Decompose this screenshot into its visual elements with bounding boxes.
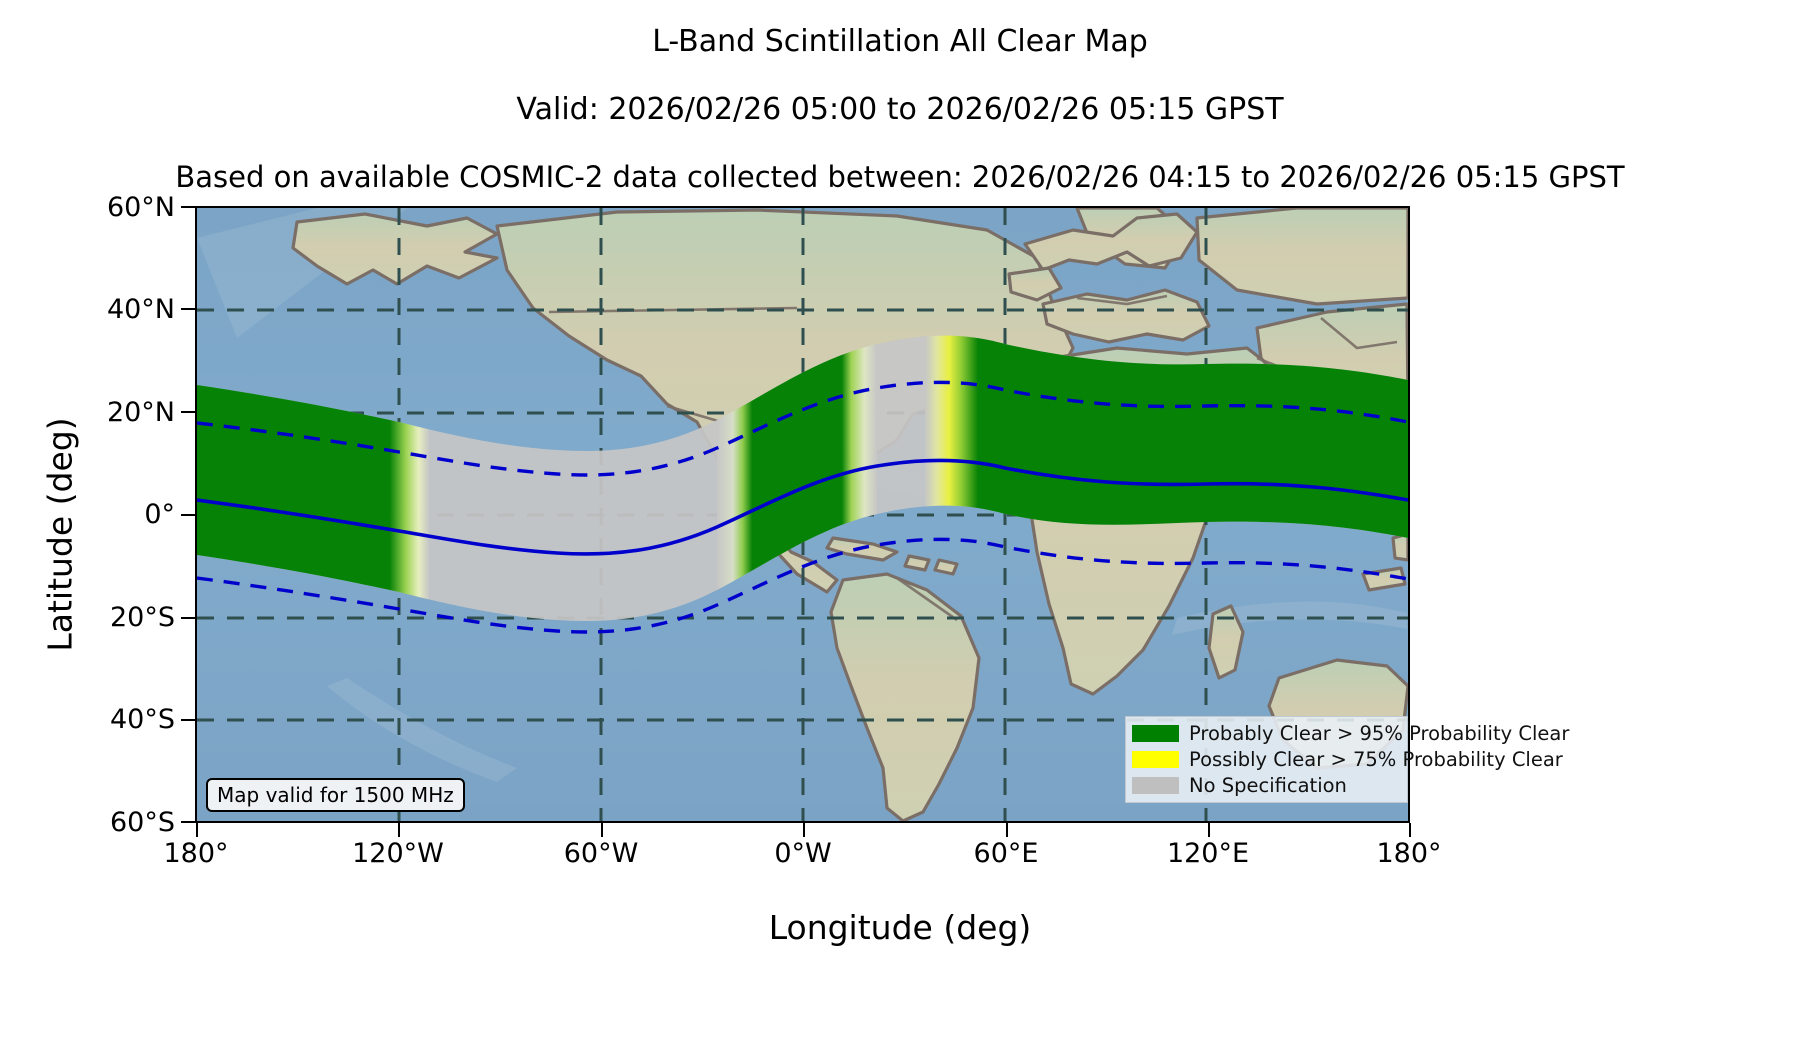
validity-subtitle: Valid: 2026/02/26 05:00 to 2026/02/26 05…: [0, 92, 1800, 127]
legend-swatch-yellow: [1132, 751, 1179, 768]
x-tick-mark: [1006, 823, 1008, 837]
map-legend: Probably Clear > 95% Probability Clear P…: [1125, 716, 1408, 803]
x-tick-label: 0°W: [774, 838, 831, 869]
legend-label: Possibly Clear > 75% Probability Clear: [1189, 748, 1563, 771]
legend-label: Probably Clear > 95% Probability Clear: [1189, 722, 1569, 745]
x-tick-mark: [1409, 823, 1411, 837]
y-tick-label: 40°N: [107, 294, 175, 325]
y-tick-label: 0°: [144, 499, 175, 530]
legend-item-probably-clear: Probably Clear > 95% Probability Clear: [1132, 721, 1401, 746]
southern-boundary-curve: [197, 539, 1408, 632]
y-tick-label: 40°S: [110, 704, 175, 735]
x-tick-label: 120°W: [352, 838, 444, 869]
y-tick-mark: [181, 719, 195, 721]
legend-item-possibly-clear: Possibly Clear > 75% Probability Clear: [1132, 747, 1401, 772]
x-tick-mark: [1208, 823, 1210, 837]
x-tick-label: 60°W: [564, 838, 639, 869]
y-tick-mark: [181, 206, 195, 208]
frequency-annotation: Map valid for 1500 MHz: [206, 778, 465, 812]
magnetic-equator-curve: [197, 460, 1408, 554]
x-tick-label: 120°E: [1167, 838, 1249, 869]
x-tick-label: 180°: [1376, 838, 1441, 869]
y-tick-label: 20°N: [107, 397, 175, 428]
northern-boundary-curve: [197, 382, 1408, 475]
legend-swatch-green: [1132, 725, 1179, 742]
scintillation-map-figure: L-Band Scintillation All Clear Map Valid…: [0, 0, 1800, 1050]
x-tick-mark: [601, 823, 603, 837]
legend-label: No Specification: [1189, 774, 1347, 797]
y-tick-mark: [181, 514, 195, 516]
x-tick-mark: [398, 823, 400, 837]
y-tick-mark: [181, 617, 195, 619]
y-tick-label: 60°N: [107, 192, 175, 223]
legend-item-no-specification: No Specification: [1132, 773, 1401, 798]
x-tick-mark: [803, 823, 805, 837]
x-tick-mark: [196, 823, 198, 837]
y-tick-label: 60°S: [110, 807, 175, 838]
page-title: L-Band Scintillation All Clear Map: [0, 24, 1800, 59]
data-source-subtitle: Based on available COSMIC-2 data collect…: [0, 160, 1800, 194]
y-axis-label: Latitude (deg): [41, 335, 80, 735]
legend-swatch-grey: [1132, 777, 1179, 794]
x-tick-label: 60°E: [974, 838, 1039, 869]
y-tick-mark: [181, 821, 195, 823]
y-tick-label: 20°S: [110, 602, 175, 633]
x-axis-label: Longitude (deg): [0, 908, 1800, 947]
y-tick-mark: [181, 308, 195, 310]
y-tick-mark: [181, 411, 195, 413]
x-tick-label: 180°: [163, 838, 228, 869]
